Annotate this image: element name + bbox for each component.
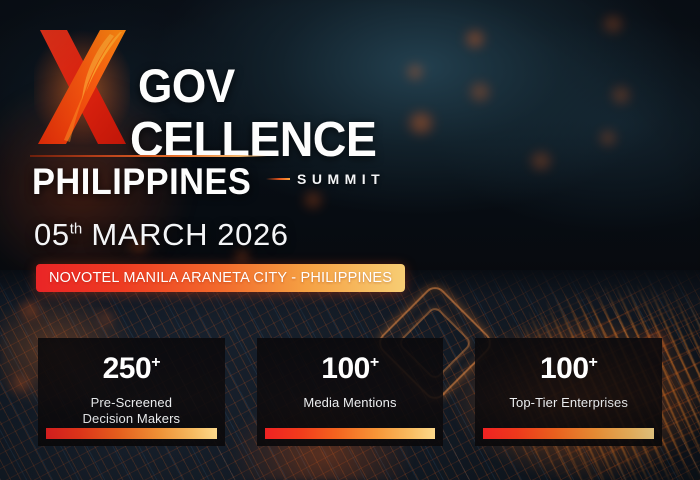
stat-card: 250+ Pre-ScreenedDecision Makers [38,338,225,446]
summit-dash-divider [266,178,290,180]
event-date-ordinal: th [70,221,83,238]
venue-badge: NOVOTEL MANILA ARANETA CITY - PHILIPPINE… [36,264,405,292]
event-date: 05th MARCH 2026 [34,217,289,253]
stat-progress-bar [483,428,654,439]
event-date-month-year: MARCH 2026 [82,217,288,252]
stat-card: 100+ Media Mentions [257,338,444,446]
stat-label: Media Mentions [297,395,402,411]
logo-text-country: PHILIPPINES [32,161,251,203]
logo-text-gov: GOV [138,65,235,107]
logo-summit-row: SUMMIT [266,171,385,187]
country-divider [30,155,267,157]
stat-number-plus: + [370,354,379,371]
logo-x-mark-icon [34,26,130,148]
stat-card: 100+ Top-Tier Enterprises [475,338,662,446]
stat-number-plus: + [589,354,598,371]
stat-label: Top-Tier Enterprises [503,395,634,411]
stat-number-value: 100 [540,352,589,385]
stat-number-value: 100 [321,352,370,385]
event-banner: GOV CELLENCE SUMMIT PHILIPPINES 05th MAR… [0,0,700,480]
stat-number: 250+ [103,354,160,384]
stat-progress-bar [265,428,436,439]
event-logo: GOV CELLENCE SUMMIT [34,26,374,166]
stat-number-plus: + [151,354,160,371]
stat-progress-bar [46,428,217,439]
stat-number-value: 250 [103,352,152,385]
stat-number: 100+ [540,354,597,384]
logo-text-summit: SUMMIT [297,171,385,187]
stat-label: Pre-ScreenedDecision Makers [77,395,187,428]
event-date-day: 05 [34,217,70,252]
stats-row: 250+ Pre-ScreenedDecision Makers 100+ Me… [38,338,662,446]
stat-number: 100+ [321,354,378,384]
venue-text: NOVOTEL MANILA ARANETA CITY - PHILIPPINE… [49,270,392,286]
